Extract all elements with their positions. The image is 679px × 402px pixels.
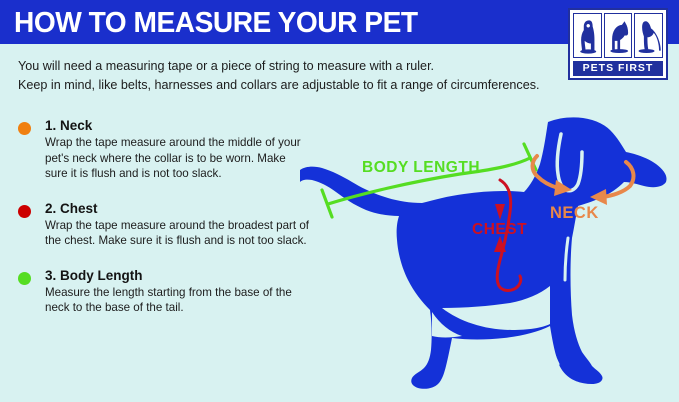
step-title-body-length: 3. Body Length [45, 268, 310, 283]
intro-text: You will need a measuring tape or a piec… [18, 57, 558, 95]
dog-standing-icon [604, 13, 633, 58]
dog-diagram: BODY LENGTH NECK CHEST [300, 100, 679, 402]
label-neck: NECK [550, 204, 599, 222]
dog-sitting-icon [573, 13, 602, 58]
step-bullet-orange [18, 122, 31, 135]
step-item-chest: 2. Chest Wrap the tape measure around th… [18, 201, 310, 249]
dog-silhouette-icon [300, 117, 667, 388]
step-body-chest: Wrap the tape measure around the broades… [45, 218, 310, 249]
intro-line-1: You will need a measuring tape or a piec… [18, 57, 558, 76]
intro-line-2: Keep in mind, like belts, harnesses and … [18, 76, 558, 95]
step-item-body-length: 3. Body Length Measure the length starti… [18, 268, 310, 316]
infographic-poster: HOW TO MEASURE YOUR PET [0, 0, 679, 402]
brand-logo: PETS FIRST [568, 8, 668, 80]
step-item-neck: 1. Neck Wrap the tape measure around the… [18, 118, 310, 182]
label-body-length: BODY LENGTH [362, 159, 480, 176]
step-bullet-green [18, 272, 31, 285]
logo-wordmark: PETS FIRST [573, 61, 663, 76]
step-title-neck: 1. Neck [45, 118, 310, 133]
step-title-chest: 2. Chest [45, 201, 310, 216]
step-body-body-length: Measure the length starting from the bas… [45, 285, 310, 316]
step-bullet-red [18, 205, 31, 218]
dog-begging-icon [634, 13, 663, 58]
step-body-neck: Wrap the tape measure around the middle … [45, 135, 310, 182]
measurement-steps-list: 1. Neck Wrap the tape measure around the… [18, 118, 310, 335]
page-title: HOW TO MEASURE YOUR PET [14, 7, 418, 40]
logo-icon-row [573, 13, 663, 58]
label-chest: CHEST [472, 221, 527, 238]
